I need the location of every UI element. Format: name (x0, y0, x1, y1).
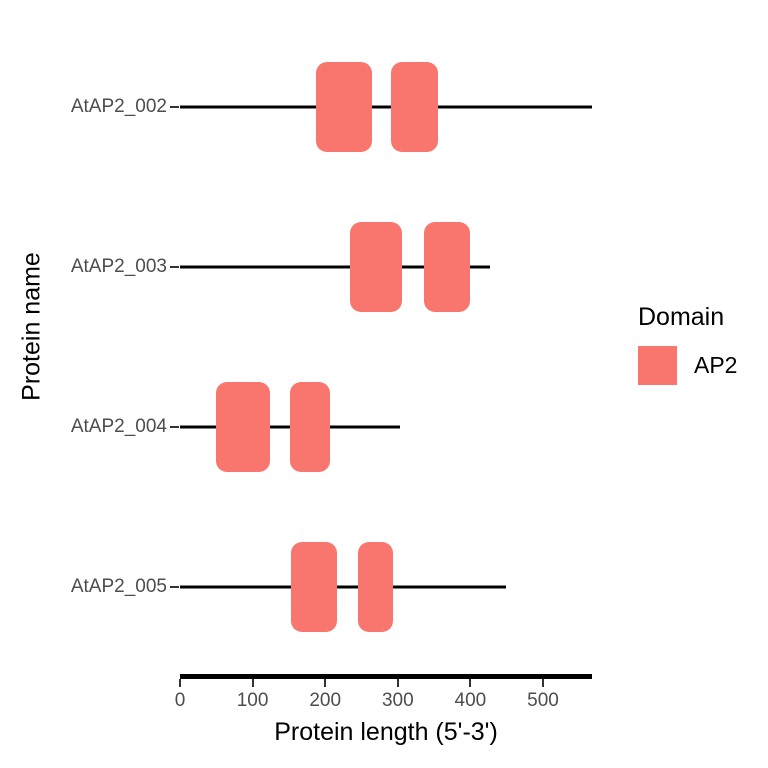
y-tick-label: AtAP2_004 (47, 416, 167, 438)
protein-backbone-line (180, 106, 592, 109)
y-tick-mark (170, 426, 179, 428)
x-tick-label: 0 (175, 690, 186, 712)
protein-backbone-line (180, 586, 506, 589)
x-tick-label: 500 (527, 690, 559, 712)
domain-rect[interactable] (291, 542, 337, 632)
x-tick-mark (397, 679, 399, 687)
domain-rect[interactable] (316, 62, 373, 152)
legend-title: Domain (638, 303, 737, 332)
x-tick-label: 400 (455, 690, 487, 712)
y-tick-label: AtAP2_003 (47, 256, 167, 278)
x-tick-mark (252, 679, 254, 687)
x-axis-title: Protein length (5'-3') (180, 718, 592, 747)
legend-label-ap2: AP2 (694, 352, 737, 379)
y-tick-mark (170, 106, 179, 108)
x-tick-mark (179, 679, 181, 687)
y-tick-label: AtAP2_005 (47, 576, 167, 598)
protein-domain-chart: Protein name AtAP2_002AtAP2_003AtAP2_004… (0, 0, 768, 768)
x-tick-label: 300 (382, 690, 414, 712)
legend-key-ap2 (638, 346, 677, 385)
x-axis-line (180, 674, 592, 679)
domain-rect[interactable] (424, 222, 470, 312)
y-tick-label: AtAP2_002 (47, 96, 167, 118)
domain-rect[interactable] (358, 542, 393, 632)
domain-rect[interactable] (290, 382, 330, 472)
x-tick-mark (469, 679, 471, 687)
legend-item-ap2[interactable]: AP2 (638, 346, 737, 385)
y-tick-mark (170, 266, 179, 268)
domain-rect[interactable] (391, 62, 437, 152)
x-tick-label: 200 (309, 690, 341, 712)
x-tick-label: 100 (237, 690, 269, 712)
x-tick-mark (542, 679, 544, 687)
y-tick-mark (170, 586, 179, 588)
y-axis-title: Protein name (18, 187, 47, 467)
domain-rect[interactable] (216, 382, 270, 472)
legend: Domain AP2 (638, 303, 737, 385)
x-tick-mark (324, 679, 326, 687)
domain-rect[interactable] (350, 222, 402, 312)
